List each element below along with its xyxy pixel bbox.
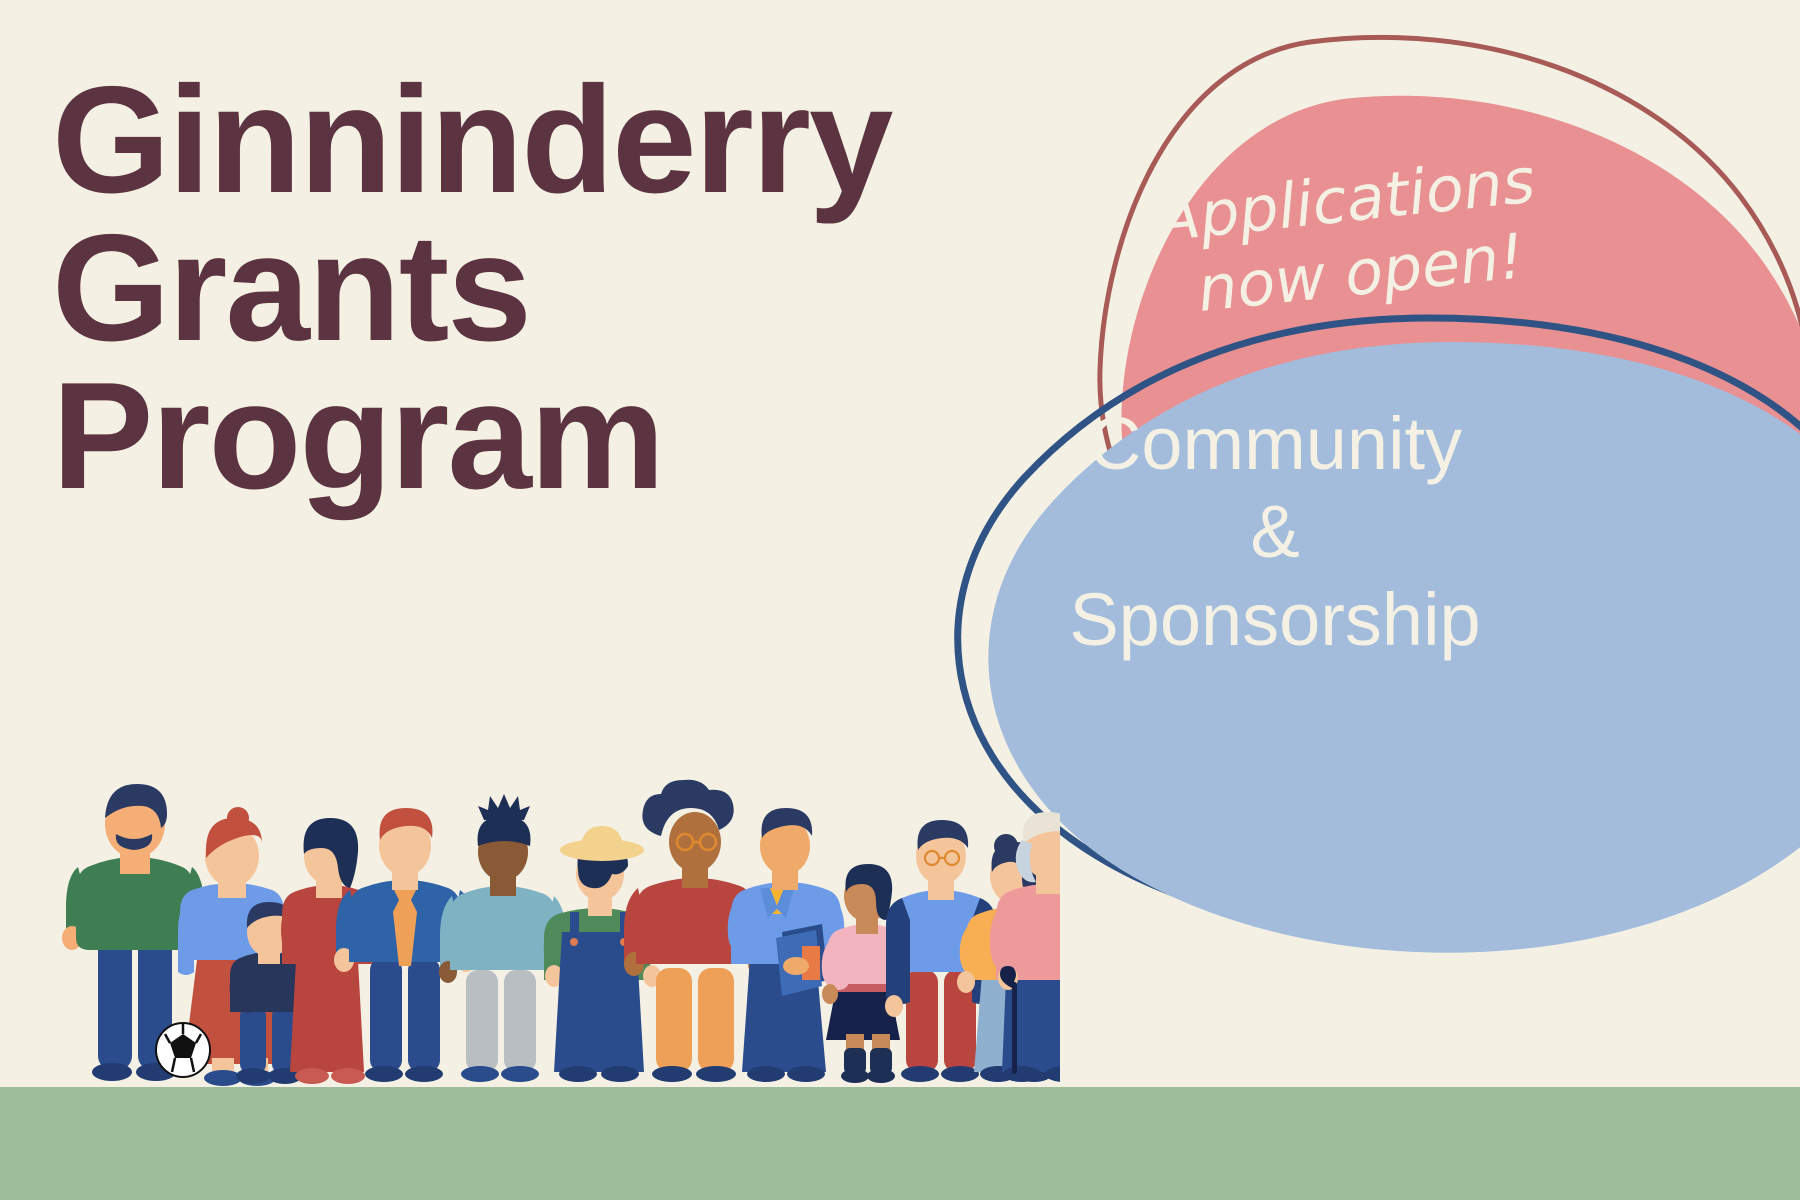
soccer-ball xyxy=(156,1023,210,1077)
people-illustration xyxy=(60,762,1060,1122)
poster-canvas: Ginninderry Grants Program Applications … xyxy=(0,0,1800,1200)
blue-badge-line-2: & xyxy=(1010,488,1540,576)
blue-badge-line-3: Sponsorship xyxy=(1010,576,1540,664)
blue-badge-text: Community & Sponsorship xyxy=(1010,400,1540,664)
blue-badge-line-1: Community xyxy=(1010,400,1540,488)
